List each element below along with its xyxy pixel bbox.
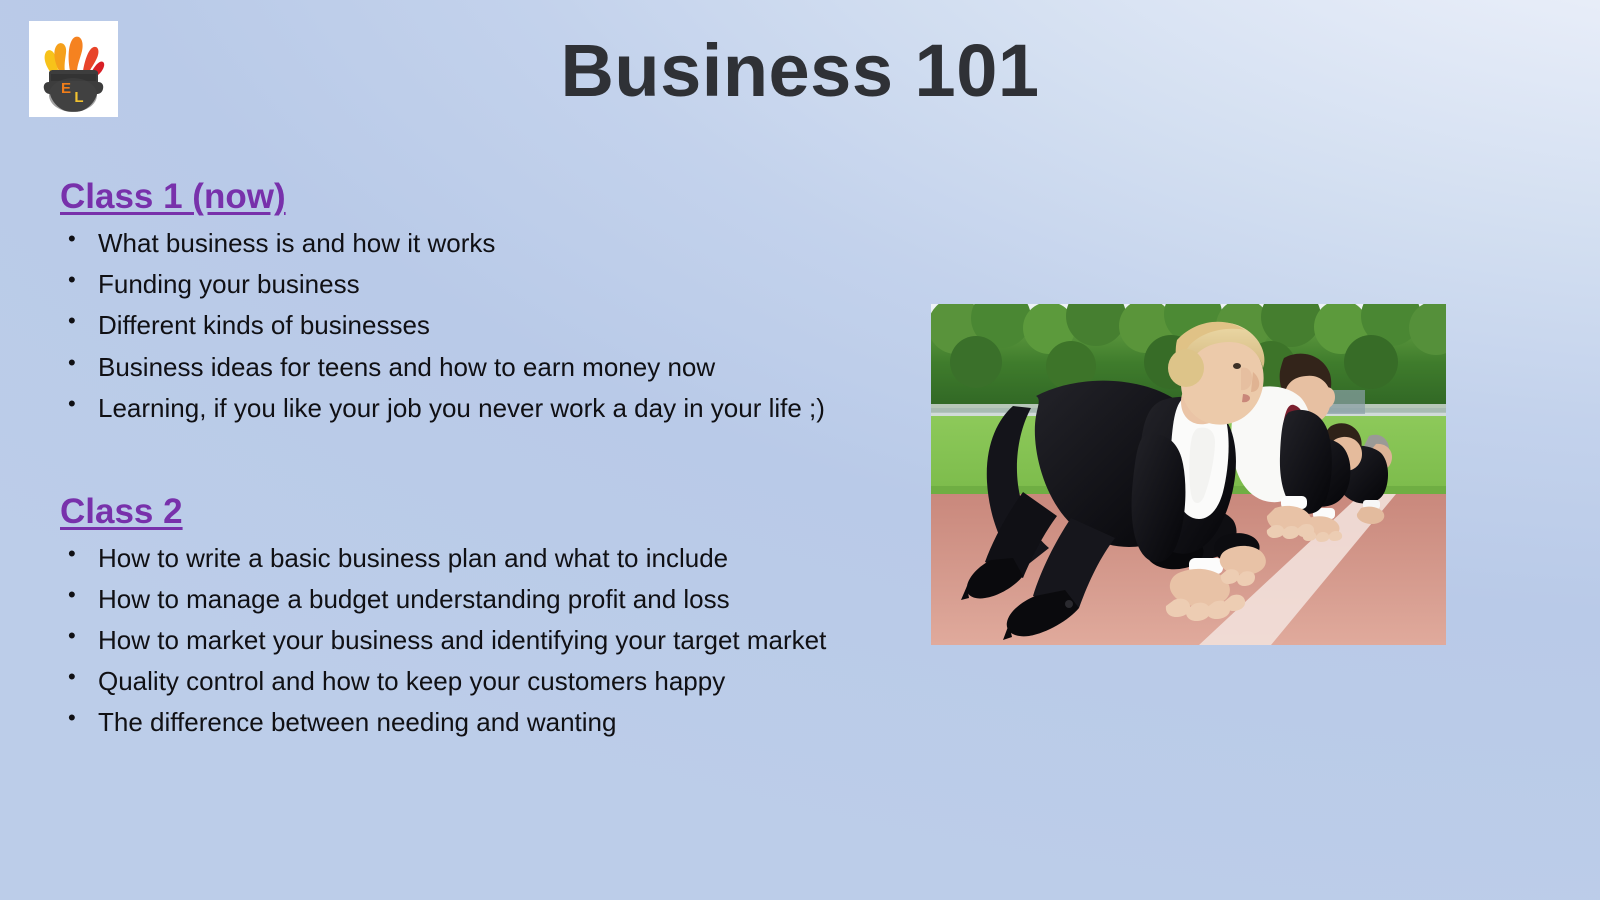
- runner-1-eye: [1233, 363, 1241, 369]
- list-item: Learning, if you like your job you never…: [60, 388, 890, 429]
- page-title: Business 101: [120, 34, 1480, 108]
- bullet-list-class-2: How to write a basic business plan and w…: [60, 538, 890, 743]
- list-item: Different kinds of businesses: [60, 305, 890, 346]
- list-item: How to manage a budget understanding pro…: [60, 579, 890, 620]
- brain-flame-logo: E L: [29, 21, 118, 117]
- slide-canvas: E L Business 101 Class 1 (now) What busi…: [0, 0, 1600, 900]
- bullet-list-class-1: What business is and how it works Fundin…: [60, 223, 890, 428]
- section-spacer: [60, 429, 890, 491]
- list-item: Quality control and how to keep your cus…: [60, 661, 890, 702]
- section-heading-class-2: Class 2: [60, 491, 183, 532]
- business-people-starting-line-photo: [931, 304, 1446, 645]
- list-item: How to write a basic business plan and w…: [60, 538, 890, 579]
- content-column: Class 1 (now) What business is and how i…: [60, 176, 890, 743]
- photo-artwork: [931, 304, 1446, 645]
- runner-1-hair-bun: [1168, 349, 1204, 387]
- list-item: Funding your business: [60, 264, 890, 305]
- section-class-1: Class 1 (now) What business is and how i…: [60, 176, 890, 429]
- list-item: What business is and how it works: [60, 223, 890, 264]
- logo-letter-l: L: [74, 89, 83, 106]
- section-class-2: Class 2 How to write a basic business pl…: [60, 491, 890, 744]
- logo-letter-e: E: [61, 80, 71, 97]
- logo-artwork: E L: [29, 21, 118, 117]
- list-item: How to market your business and identify…: [60, 620, 890, 661]
- list-item: Business ideas for teens and how to earn…: [60, 347, 890, 388]
- section-heading-class-1: Class 1 (now): [60, 176, 286, 217]
- list-item: The difference between needing and wanti…: [60, 702, 890, 743]
